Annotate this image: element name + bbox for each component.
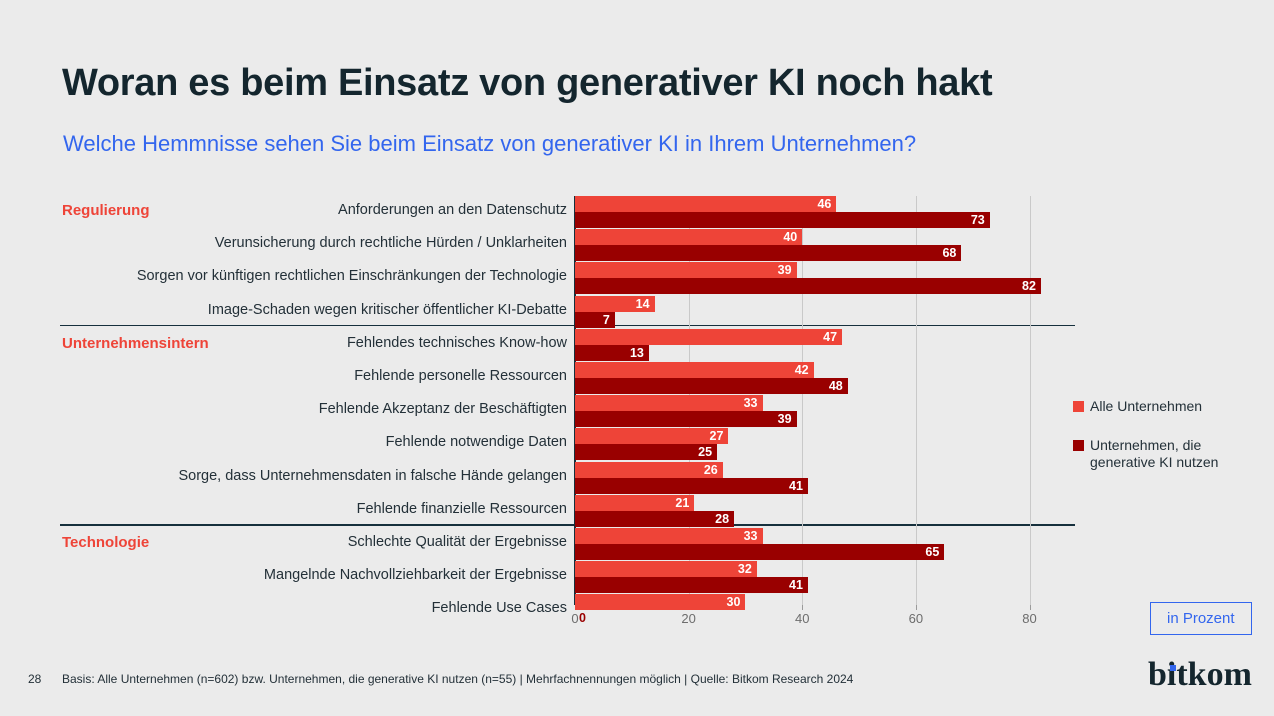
legend-label: Unternehmen, die generative KI nutzen — [1090, 437, 1263, 471]
x-tick-label: 60 — [909, 611, 923, 626]
bar-value-label: 33 — [729, 528, 758, 544]
logo-dot-icon — [1170, 665, 1176, 671]
bar-value-label: 82 — [1007, 278, 1036, 294]
units-badge: in Prozent — [1150, 602, 1252, 635]
category-label: Fehlende Use Cases — [47, 600, 567, 617]
gridline — [1030, 196, 1031, 605]
plot-area: 0204060804673406839821474713424833392725… — [575, 196, 1075, 605]
bar-value-label: 25 — [683, 444, 712, 460]
bar — [575, 245, 961, 261]
x-tick-label: 20 — [681, 611, 695, 626]
bar-value-label: 65 — [910, 544, 939, 560]
bar-value-label: 30 — [711, 594, 740, 610]
bar-value-label: 39 — [763, 411, 792, 427]
category-label: Fehlende personelle Ressourcen — [47, 368, 567, 385]
category-label: Anforderungen an den Datenschutz — [47, 202, 567, 219]
bar — [575, 544, 944, 560]
legend-swatch-icon — [1073, 440, 1084, 451]
bar-value-label: 39 — [763, 262, 792, 278]
x-tick-label: 40 — [795, 611, 809, 626]
bar-value-label: 41 — [774, 577, 803, 593]
bitkom-logo: bitkom — [1148, 656, 1252, 694]
category-label: Fehlende notwendige Daten — [47, 434, 567, 451]
chart-legend: Alle UnternehmenUnternehmen, die generat… — [1073, 398, 1263, 493]
bar-value-label: 68 — [927, 245, 956, 261]
category-label: Fehlende Akzeptanz der Beschäftigten — [47, 401, 567, 418]
x-tick-mark — [1030, 605, 1031, 610]
bar-value-label: 13 — [615, 345, 644, 361]
bitkom-wordmark: bitkom — [1148, 656, 1252, 693]
legend-label: Alle Unternehmen — [1090, 398, 1202, 415]
x-tick-label: 80 — [1022, 611, 1036, 626]
bar-value-label: 21 — [660, 495, 689, 511]
bar-value-label: 27 — [694, 428, 723, 444]
footer-source-note: Basis: Alle Unternehmen (n=602) bzw. Unt… — [62, 672, 853, 686]
bar-value-label: 26 — [689, 462, 718, 478]
bar — [575, 329, 842, 345]
bar-value-label: 40 — [768, 229, 797, 245]
bar — [575, 212, 990, 228]
bar-value-label: 46 — [802, 196, 831, 212]
legend-swatch-icon — [1073, 401, 1084, 412]
bar-value-label: 47 — [808, 329, 837, 345]
category-label: Mangelnde Nachvollziehbarkeit der Ergebn… — [47, 567, 567, 584]
category-label: Verunsicherung durch rechtliche Hürden /… — [47, 235, 567, 252]
bar-value-label: 14 — [621, 296, 650, 312]
bar — [575, 362, 814, 378]
bar-value-label: 42 — [780, 362, 809, 378]
x-tick-mark — [916, 605, 917, 610]
legend-item[interactable]: Alle Unternehmen — [1073, 398, 1263, 415]
legend-item[interactable]: Unternehmen, die generative KI nutzen — [1073, 437, 1263, 471]
category-label: Image-Schaden wegen kritischer öffentlic… — [47, 302, 567, 319]
x-tick-mark — [802, 605, 803, 610]
category-label: Fehlende finanzielle Ressourcen — [47, 501, 567, 518]
bar-value-label: 7 — [581, 312, 610, 328]
bar-value-label: 33 — [729, 395, 758, 411]
category-label: Sorgen vor künftigen rechtlichen Einschr… — [47, 268, 567, 285]
category-label: Fehlendes technisches Know-how — [47, 335, 567, 352]
bar — [575, 196, 836, 212]
x-tick-label: 0 — [571, 611, 578, 626]
category-label: Schlechte Qualität der Ergebnisse — [47, 534, 567, 551]
bar — [575, 378, 848, 394]
category-label: Sorge, dass Unternehmensdaten in falsche… — [47, 468, 567, 485]
bar — [575, 278, 1041, 294]
bar-value-label: 41 — [774, 478, 803, 494]
bar-value-label: 48 — [814, 378, 843, 394]
bar-value-label: 0 — [579, 610, 586, 626]
page-number: 28 — [28, 672, 41, 686]
bar-value-label: 32 — [723, 561, 752, 577]
bar-value-label: 73 — [956, 212, 985, 228]
bar-value-label: 28 — [700, 511, 729, 527]
bar-chart: RegulierungUnternehmensinternTechnologie… — [0, 0, 1274, 716]
